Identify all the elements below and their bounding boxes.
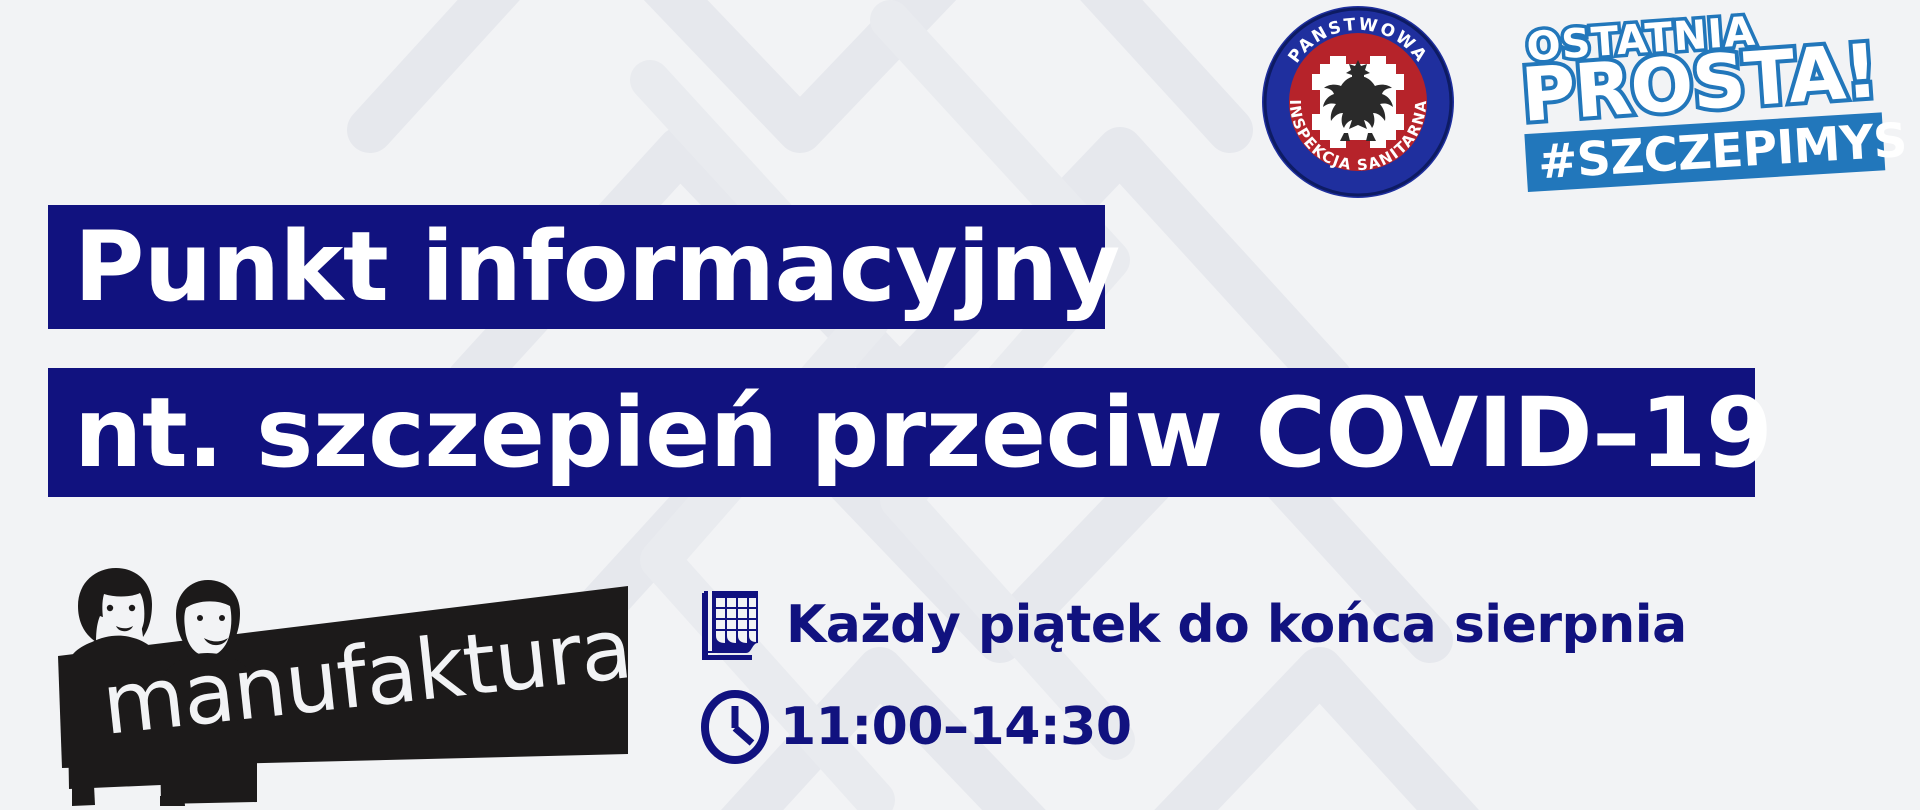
man-legs bbox=[160, 795, 185, 806]
info-time-text: 11:00–14:30 bbox=[780, 701, 1132, 753]
sanepid-logo: PANSTWOWA INSPEKCJA SANITARNA bbox=[1258, 2, 1458, 202]
woman-eye-right bbox=[129, 605, 135, 611]
info-row-time: 11:00–14:30 bbox=[700, 675, 1800, 779]
headline-line2-text: nt. szczepień przeciw COVID–19 bbox=[74, 385, 1772, 481]
info-row-date: Każdy piątek do końca sierpnia bbox=[700, 575, 1800, 675]
woman-face bbox=[102, 593, 144, 642]
manufaktura-logo-svg: manufaktura bbox=[48, 556, 638, 806]
info-block: Każdy piątek do końca sierpnia 11:00–14:… bbox=[700, 575, 1800, 779]
info-date-text: Każdy piątek do końca sierpnia bbox=[786, 599, 1687, 651]
ostatnia-prosta-logo: OSTATNIA PROSTA! #SZCZEPIMYSIĘ bbox=[1508, 0, 1908, 200]
calendar-icon bbox=[700, 589, 786, 661]
headline-bar-line1: Punkt informacyjny bbox=[48, 205, 1105, 329]
man-eye-left bbox=[197, 615, 203, 621]
headline-bar-line2: nt. szczepień przeciw COVID–19 bbox=[48, 368, 1755, 497]
manufaktura-logo: manufaktura bbox=[48, 556, 638, 806]
clock-icon bbox=[700, 690, 780, 764]
calendar-spine bbox=[708, 591, 712, 651]
man-eye-right bbox=[219, 615, 225, 621]
sanepid-emblem-svg: PANSTWOWA INSPEKCJA SANITARNA bbox=[1258, 2, 1458, 202]
clock-hand-minute bbox=[735, 728, 752, 743]
poster-canvas: PANSTWOWA INSPEKCJA SANITARNA OSTATNIA P… bbox=[0, 0, 1920, 810]
woman-eye-left bbox=[107, 605, 113, 611]
clock-icon-svg bbox=[700, 690, 770, 764]
woman-legs bbox=[72, 785, 95, 806]
campaign-logo-svg: OSTATNIA PROSTA! #SZCZEPIMYSIĘ bbox=[1508, 0, 1908, 200]
headline-line1-text: Punkt informacyjny bbox=[74, 219, 1120, 315]
calendar-icon-svg bbox=[700, 589, 762, 661]
